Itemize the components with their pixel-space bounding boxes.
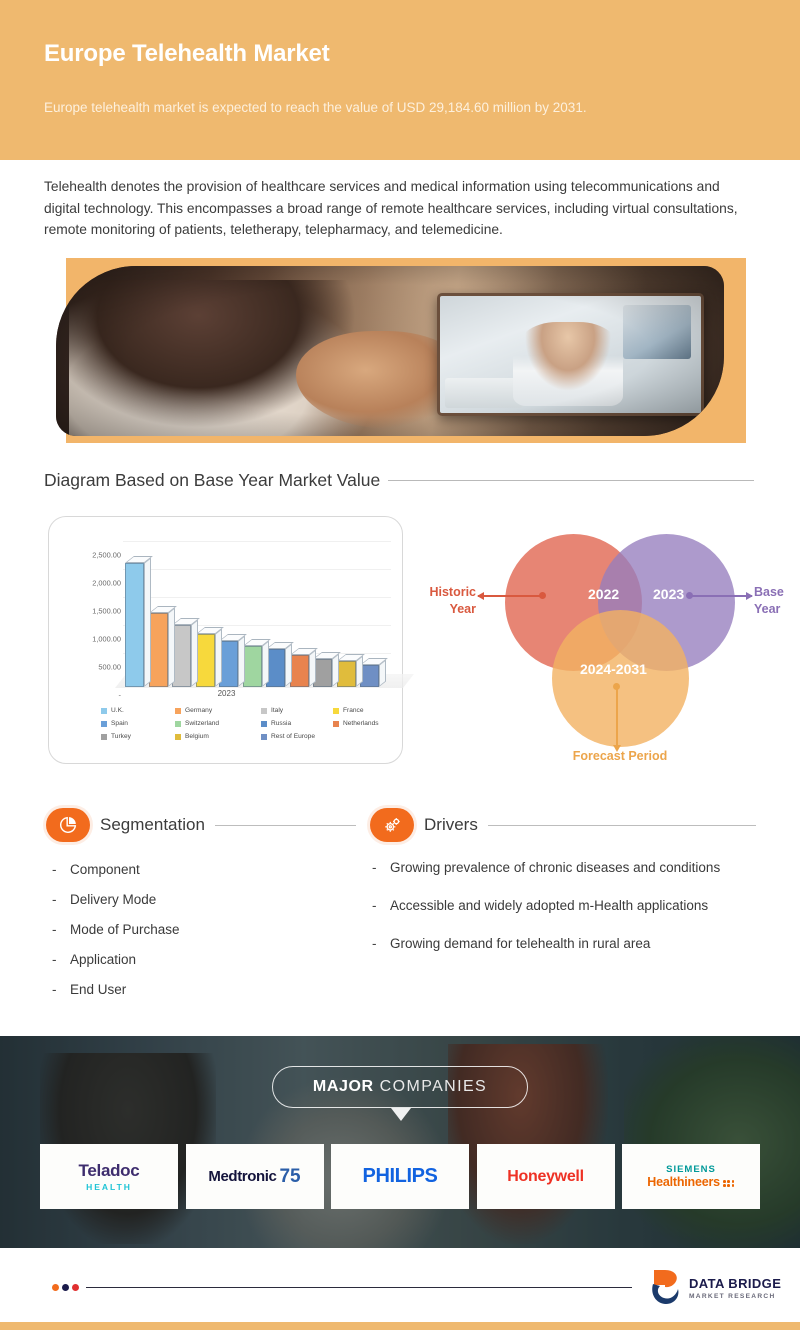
logo-medtronic-wordmark: Medtronic (208, 1168, 276, 1185)
chart-legend: U.K.GermanyItalyFranceSpainSwitzerlandRu… (101, 707, 401, 740)
legend-swatch-icon (333, 708, 339, 714)
venn-label-historic: 2022 (588, 586, 619, 602)
legend-label: Switzerland (185, 720, 219, 727)
list-bullet-icon: - (52, 890, 61, 909)
logo-teladoc-subtext: HEALTH (86, 1182, 132, 1192)
logo-siemens-wordmark: SIEMENS (666, 1164, 716, 1175)
chart-bar-side (144, 557, 151, 687)
list-item: -Application (52, 950, 352, 969)
list-bullet-icon: - (52, 920, 61, 939)
chart-y-tick: 2,500.00 (92, 551, 121, 560)
chart-legend-item: Italy (261, 707, 333, 714)
chart-bar-front (290, 655, 309, 687)
legend-swatch-icon (333, 721, 339, 727)
legend-label: Netherlands (343, 720, 379, 727)
chart-y-tick: 500.00 (98, 663, 121, 672)
chart-legend-item: Turkey (101, 733, 175, 740)
segmentation-heading: Segmentation (100, 815, 205, 835)
drivers-heading: Drivers (424, 815, 478, 835)
logo-teladoc-wordmark: Teladoc (79, 1161, 140, 1181)
logo-healthineers-wordmark: Healthineers (647, 1175, 720, 1189)
footer-rule (86, 1287, 632, 1288)
footer-dot (62, 1284, 69, 1291)
diagram-section-title: Diagram Based on Base Year Market Value (44, 470, 380, 491)
chart-bar-side (168, 607, 175, 687)
chart-bar-side (262, 641, 269, 687)
major-companies-light-text: COMPANIES (380, 1078, 487, 1096)
chart-bar-side (332, 654, 339, 687)
chart-bar (337, 661, 356, 687)
chart-bar (243, 646, 262, 687)
logo-philips-wordmark: PHILIPS (363, 1165, 438, 1188)
list-item: -Delivery Mode (52, 890, 352, 909)
chart-legend-item: Germany (175, 707, 261, 714)
legend-swatch-icon (101, 708, 107, 714)
legend-swatch-icon (101, 734, 107, 740)
list-item-label: Accessible and widely adopted m-Health a… (390, 896, 708, 915)
legend-label: U.K. (111, 707, 124, 714)
venn-label-forecast: 2024-2031 (580, 661, 647, 677)
chart-bar (196, 634, 215, 687)
venn-diagram: 2022 2023 2024-2031 Historic Year Base Y… (410, 516, 800, 776)
major-companies-pill: MAJOR COMPANIES (272, 1066, 528, 1108)
chart-bars (125, 547, 391, 687)
legend-label: France (343, 707, 364, 714)
logo-teladoc: Teladoc HEALTH (40, 1144, 178, 1209)
section-divider (388, 480, 754, 481)
drivers-list: -Growing prevalence of chronic diseases … (372, 858, 754, 972)
caret-down-icon (391, 1108, 411, 1121)
chart-legend-item: Belgium (175, 733, 261, 740)
chart-y-tick: 2,000.00 (92, 579, 121, 588)
legend-swatch-icon (175, 721, 181, 727)
databridge-tagline: MARKET RESEARCH (689, 1293, 781, 1300)
chart-plot-area: -500.001,000.001,500.002,000.002,500.00 (49, 527, 404, 687)
databridge-logo: DATA BRIDGE MARKET RESEARCH (648, 1268, 781, 1308)
list-bullet-icon: - (52, 980, 61, 999)
chart-bar-front (337, 661, 356, 687)
list-item-label: Delivery Mode (70, 890, 156, 909)
venn-arrow-historic-icon (478, 595, 540, 597)
databridge-name: DATA BRIDGE (689, 1277, 781, 1291)
drivers-divider (488, 825, 756, 826)
legend-label: Russia (271, 720, 291, 727)
legend-swatch-icon (261, 721, 267, 727)
siemens-dots-icon (723, 1180, 735, 1189)
chart-legend-item: Spain (101, 720, 175, 727)
legend-label: Germany (185, 707, 212, 714)
venn-anchor-dot-historic (539, 592, 546, 599)
venn-circle-forecast (552, 610, 689, 747)
chart-bar (290, 655, 309, 687)
list-item: -Accessible and widely adopted m-Health … (372, 896, 754, 915)
chart-legend-item: Russia (261, 720, 333, 727)
legend-label: Turkey (111, 733, 131, 740)
pie-chart-icon (46, 808, 90, 842)
venn-label-base: 2023 (653, 586, 684, 602)
chart-y-tick: 1,000.00 (92, 635, 121, 644)
legend-swatch-icon (101, 721, 107, 727)
venn-anchor-dot-base (686, 592, 693, 599)
list-item-label: Application (70, 950, 136, 969)
chart-bar-side (215, 629, 222, 687)
legend-label: Belgium (185, 733, 209, 740)
chart-gridline (123, 541, 391, 542)
legend-label: Italy (271, 707, 283, 714)
chart-bar-side (238, 635, 245, 687)
hero-photo (56, 266, 724, 436)
list-item-label: Growing prevalence of chronic diseases a… (390, 858, 720, 877)
chart-legend-item: Switzerland (175, 720, 261, 727)
chart-legend-item: U.K. (101, 707, 175, 714)
venn-anchor-dot-forecast (613, 683, 620, 690)
list-item-label: Mode of Purchase (70, 920, 180, 939)
page-title: Europe Telehealth Market (44, 40, 330, 68)
list-item: -Mode of Purchase (52, 920, 352, 939)
logo-medtronic: Medtronic 75 (186, 1144, 324, 1209)
list-bullet-icon: - (52, 860, 61, 879)
list-item-label: End User (70, 980, 126, 999)
segmentation-header: Segmentation (46, 808, 356, 842)
diagram-section-header: Diagram Based on Base Year Market Value (44, 470, 754, 491)
chart-x-axis-label: 2023 (49, 689, 404, 698)
list-bullet-icon: - (372, 858, 381, 877)
page-header: Europe Telehealth Market Europe teleheal… (0, 0, 800, 160)
chart-bar (125, 563, 144, 687)
venn-arrow-base-icon (690, 595, 752, 597)
logo-honeywell-wordmark: Honeywell (507, 1168, 583, 1186)
venn-caption-base: Base Year (754, 584, 800, 618)
chart-bar-side (285, 644, 292, 687)
drivers-header: Drivers (370, 808, 756, 842)
chart-legend-item: France (333, 707, 413, 714)
chart-bar-front (125, 563, 144, 687)
footer-dots-icon (52, 1284, 79, 1291)
list-bullet-icon: - (372, 934, 381, 953)
list-item: -Growing prevalence of chronic diseases … (372, 858, 754, 877)
list-bullet-icon: - (52, 950, 61, 969)
chart-legend-item: Netherlands (333, 720, 413, 727)
hero-vignette (56, 266, 724, 436)
legend-swatch-icon (261, 734, 267, 740)
chart-bar-side (191, 619, 198, 687)
list-item: -End User (52, 980, 352, 999)
venn-arrow-forecast-icon (616, 688, 618, 746)
chart-bar (149, 613, 168, 687)
list-item-label: Component (70, 860, 140, 879)
segmentation-divider (215, 825, 356, 826)
list-item-label: Growing demand for telehealth in rural a… (390, 934, 650, 953)
hero-image-block (56, 258, 746, 443)
company-logo-row: Teladoc HEALTH Medtronic 75 PHILIPS Hone… (40, 1144, 760, 1209)
footer-dot (72, 1284, 79, 1291)
footer-accent-strip (0, 1322, 800, 1330)
list-item: -Component (52, 860, 352, 879)
legend-swatch-icon (175, 734, 181, 740)
intro-paragraph: Telehealth denotes the provision of heal… (44, 176, 752, 241)
gears-icon (370, 808, 414, 842)
list-bullet-icon: - (372, 896, 381, 915)
legend-swatch-icon (261, 708, 267, 714)
chart-y-tick: 1,500.00 (92, 607, 121, 616)
chart-legend-item: Rest of Europe (261, 733, 333, 740)
logo-medtronic-anniversary: 75 (279, 1166, 300, 1188)
footer-dot (52, 1284, 59, 1291)
chart-bar-front (196, 634, 215, 687)
major-companies-bold-text: MAJOR (313, 1078, 374, 1096)
segmentation-list: -Component-Delivery Mode-Mode of Purchas… (52, 860, 352, 1010)
legend-label: Spain (111, 720, 128, 727)
legend-swatch-icon (175, 708, 181, 714)
chart-bar-front (149, 613, 168, 687)
legend-label: Rest of Europe (271, 733, 315, 740)
chart-bar-front (243, 646, 262, 687)
venn-caption-historic: Historic Year (410, 584, 476, 618)
chart-y-axis-labels: -500.001,000.001,500.002,000.002,500.00 (59, 541, 121, 681)
databridge-mark-icon (648, 1268, 682, 1308)
logo-siemens-healthineers: SIEMENS Healthineers (622, 1144, 760, 1209)
chart-bar-side (309, 650, 316, 687)
header-subtitle: Europe telehealth market is expected to … (44, 97, 604, 118)
list-item: -Growing demand for telehealth in rural … (372, 934, 754, 953)
logo-philips: PHILIPS (331, 1144, 469, 1209)
logo-honeywell: Honeywell (477, 1144, 615, 1209)
market-value-chart-card: -500.001,000.001,500.002,000.002,500.00 … (48, 516, 403, 764)
